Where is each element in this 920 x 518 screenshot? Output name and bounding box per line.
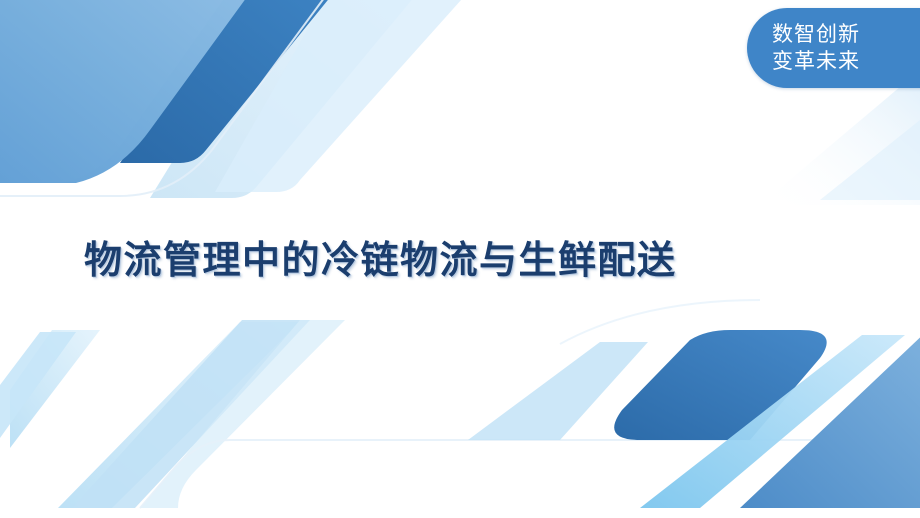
slide-title: 物流管理中的冷链物流与生鲜配送 bbox=[84, 235, 677, 285]
badge-line-1: 数智创新 bbox=[772, 21, 860, 48]
top-right-faint-band bbox=[760, 70, 920, 205]
bottom-mid-pale-band bbox=[56, 320, 345, 508]
slide-canvas: 数智创新 变革未来 物流管理中的冷链物流与生鲜配送 bbox=[0, 0, 920, 518]
bottom-left-stripe-short bbox=[0, 330, 100, 448]
badge-line-2: 变革未来 bbox=[772, 48, 860, 75]
corner-badge: 数智创新 变革未来 bbox=[747, 8, 920, 88]
